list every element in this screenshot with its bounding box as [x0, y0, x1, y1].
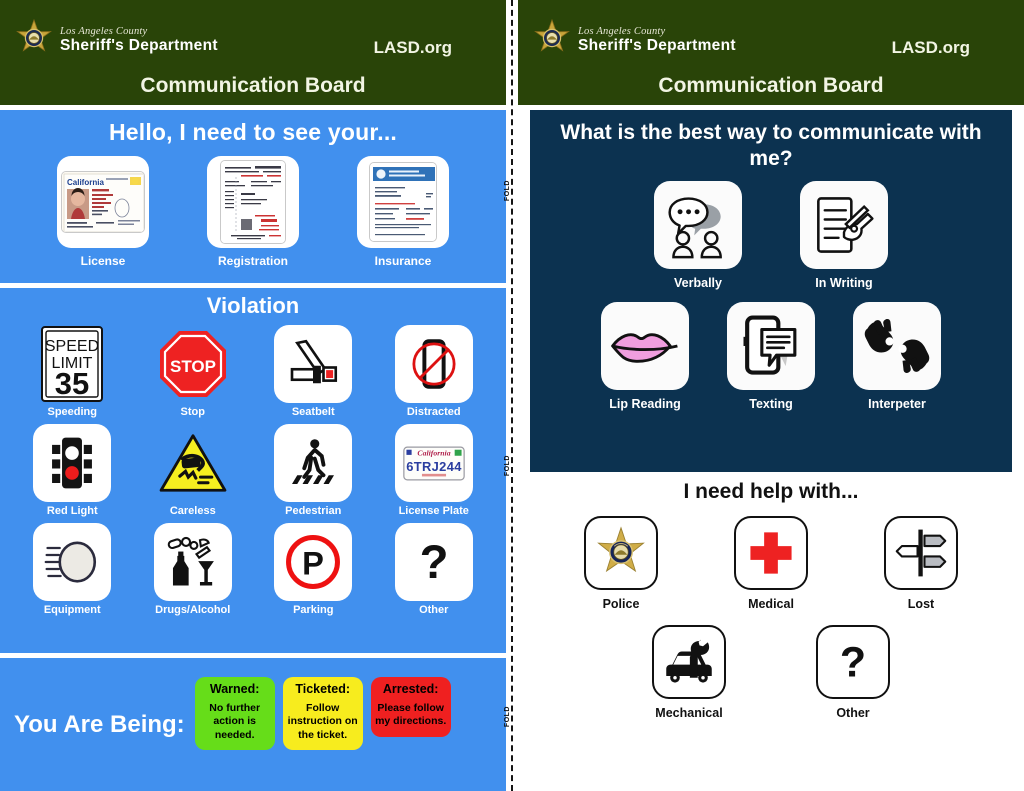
violation-label: Pedestrian — [253, 505, 374, 517]
status-heading: Ticketed: — [287, 682, 359, 696]
help-row-2: Mechanical ? Other — [530, 625, 1012, 720]
communicate-label: Interpeter — [853, 397, 941, 411]
drugs-alcohol-icon — [154, 523, 232, 601]
svg-text:?: ? — [840, 639, 866, 686]
signpost-icon — [884, 516, 958, 590]
violation-item-drugs-alcohol[interactable]: Drugs/Alcohol — [133, 523, 254, 616]
communicate-label: Texting — [727, 397, 815, 411]
pedestrian-crossing-icon — [274, 424, 352, 502]
insurance-card-icon — [357, 156, 449, 248]
status-card-warned[interactable]: Warned: No further action is needed. — [195, 677, 275, 749]
violation-item-pedestrian[interactable]: Pedestrian — [253, 424, 374, 517]
page-title-left: Communication Board — [0, 74, 506, 98]
violation-label: Careless — [133, 505, 254, 517]
help-section: I need help with... Police — [530, 478, 1012, 791]
status-card-arrested[interactable]: Arrested: Please follow my directions. — [371, 677, 451, 736]
fold-label: FOLD — [504, 455, 511, 476]
you-are-being-section: You Are Being: Warned: No further action… — [0, 658, 506, 791]
communicate-item-texting[interactable]: Texting — [727, 302, 815, 411]
status-card-ticketed[interactable]: Ticketed: Follow instruction on the tick… — [283, 677, 363, 749]
violation-item-license-plate[interactable]: California 6TRJ244 License Plate — [374, 424, 495, 517]
question-mark-icon: ? — [816, 625, 890, 699]
fold-line: FOLD FOLD FOLD — [505, 0, 519, 791]
communicate-item-verbally[interactable]: Verbally — [654, 181, 742, 290]
lasd-logo: Los Angeles County Sheriff's Department — [14, 19, 218, 59]
hand-writing-icon — [800, 181, 888, 269]
violation-item-distracted[interactable]: Distracted — [374, 325, 495, 418]
speech-bubble-people-icon — [654, 181, 742, 269]
status-heading: Warned: — [199, 682, 271, 696]
help-item-mechanical[interactable]: Mechanical — [652, 625, 726, 720]
headlight-icon — [33, 523, 111, 601]
svg-text:California: California — [417, 448, 450, 457]
sign-language-hands-icon — [853, 302, 941, 390]
right-panel: Los Angeles County Sheriff's Department … — [518, 0, 1024, 791]
status-card-row: Warned: No further action is needed. Tic… — [195, 677, 451, 771]
violation-label: Parking — [253, 604, 374, 616]
communicate-row-1: Verbally — [530, 181, 1012, 290]
violation-label: Distracted — [374, 406, 495, 418]
help-row-1: Police Medical — [530, 516, 1012, 611]
violation-grid: SPEED LIMIT 35 Speeding STOP — [0, 319, 506, 616]
violation-label: Other — [374, 604, 495, 616]
status-body: No further action is needed. — [199, 702, 271, 741]
communicate-label: In Writing — [800, 276, 888, 290]
help-label: Police — [584, 597, 658, 611]
svg-text:6TRJ244: 6TRJ244 — [406, 459, 462, 474]
svg-text:California: California — [67, 178, 104, 187]
seatbelt-icon — [274, 325, 352, 403]
car-wrench-icon — [652, 625, 726, 699]
lasd-logo: Los Angeles County Sheriff's Department — [532, 19, 736, 59]
communicate-row-2: Lip Reading — [530, 302, 1012, 411]
fold-label: FOLD — [504, 706, 511, 727]
status-heading: Arrested: — [375, 682, 447, 696]
violation-label: Equipment — [12, 604, 133, 616]
violation-item-equipment[interactable]: Equipment — [12, 523, 133, 616]
document-item-registration[interactable]: Registration — [203, 156, 303, 268]
question-mark-icon: ? — [395, 523, 473, 601]
communicate-item-interpreter[interactable]: Interpeter — [853, 302, 941, 411]
communicate-section: What is the best way to communicate with… — [530, 110, 1012, 472]
help-item-medical[interactable]: Medical — [734, 516, 808, 611]
status-body: Follow instruction on the ticket. — [287, 702, 359, 741]
stop-sign-icon: STOP — [154, 325, 232, 403]
logo-county-text: Los Angeles County — [578, 27, 736, 38]
violation-item-seatbelt[interactable]: Seatbelt — [253, 325, 374, 418]
traffic-light-icon — [33, 424, 111, 502]
hello-section: Hello, I need to see your... California — [0, 110, 506, 283]
document-item-license[interactable]: California — [53, 156, 153, 268]
sheriff-star-badge-icon — [14, 19, 54, 59]
you-are-being-title: You Are Being: — [14, 711, 185, 739]
help-label: Medical — [734, 597, 808, 611]
violation-item-parking[interactable]: P Parking — [253, 523, 374, 616]
page-title-right: Communication Board — [518, 74, 1024, 98]
help-item-police[interactable]: Police — [584, 516, 658, 611]
svg-text:STOP: STOP — [170, 357, 216, 376]
document-item-insurance[interactable]: Insurance — [353, 156, 453, 268]
left-header: Los Angeles County Sheriff's Department … — [0, 0, 506, 105]
violation-label: Seatbelt — [253, 406, 374, 418]
violation-item-careless[interactable]: Careless — [133, 424, 254, 517]
help-label: Mechanical — [652, 706, 726, 720]
slippery-road-icon — [154, 424, 232, 502]
communicate-label: Lip Reading — [601, 397, 689, 411]
lips-icon — [601, 302, 689, 390]
violation-label: Red Light — [12, 505, 133, 517]
lasd-url[interactable]: LASD.org — [374, 38, 452, 58]
speed-limit-sign-icon: SPEED LIMIT 35 — [33, 325, 111, 403]
logo-department-text: Sheriff's Department — [578, 38, 736, 54]
violation-label: Speeding — [12, 406, 133, 418]
right-header: Los Angeles County Sheriff's Department … — [518, 0, 1024, 105]
logo-department-text: Sheriff's Department — [60, 38, 218, 54]
svg-text:P: P — [302, 545, 324, 582]
fold-label: FOLD — [504, 180, 511, 201]
violation-label: Drugs/Alcohol — [133, 604, 254, 616]
violation-label: License Plate — [374, 505, 495, 517]
help-item-other[interactable]: ? Other — [816, 625, 890, 720]
status-body: Please follow my directions. — [375, 702, 447, 728]
vehicle-registration-icon — [207, 156, 299, 248]
help-item-lost[interactable]: Lost — [884, 516, 958, 611]
phone-message-icon — [727, 302, 815, 390]
violation-label: Stop — [133, 406, 254, 418]
violation-section-title: Violation — [0, 288, 506, 319]
violation-item-other[interactable]: ? Other — [374, 523, 495, 616]
help-label: Other — [816, 706, 890, 720]
drivers-license-icon: California — [57, 156, 149, 248]
document-label: Registration — [203, 254, 303, 268]
svg-text:35: 35 — [55, 366, 89, 401]
communicate-item-lip-reading[interactable]: Lip Reading — [601, 302, 689, 411]
no-phone-icon — [395, 325, 473, 403]
svg-text:?: ? — [419, 536, 448, 589]
document-row: California — [0, 146, 506, 268]
violation-item-red-light[interactable]: Red Light — [12, 424, 133, 517]
violation-item-speeding[interactable]: SPEED LIMIT 35 Speeding — [12, 325, 133, 418]
sheriff-star-badge-icon — [532, 19, 572, 59]
fold-dashes — [511, 0, 513, 791]
help-section-title: I need help with... — [530, 478, 1012, 504]
license-plate-icon: California 6TRJ244 — [395, 424, 473, 502]
svg-text:SPEED: SPEED — [45, 338, 99, 355]
document-label: License — [53, 254, 153, 268]
violation-section: Violation SPEED LIMIT 35 Speeding — [0, 288, 506, 653]
hello-section-title: Hello, I need to see your... — [0, 110, 506, 146]
communicate-section-title: What is the best way to communicate with… — [530, 110, 1012, 171]
sheriff-star-badge-icon — [584, 516, 658, 590]
help-label: Lost — [884, 597, 958, 611]
logo-county-text: Los Angeles County — [60, 27, 218, 38]
lasd-url[interactable]: LASD.org — [892, 38, 970, 58]
violation-item-stop[interactable]: STOP Stop — [133, 325, 254, 418]
red-cross-icon — [734, 516, 808, 590]
communicate-item-in-writing[interactable]: In Writing — [800, 181, 888, 290]
communicate-label: Verbally — [654, 276, 742, 290]
left-panel: Los Angeles County Sheriff's Department … — [0, 0, 506, 791]
document-label: Insurance — [353, 254, 453, 268]
no-parking-icon: P — [274, 523, 352, 601]
communication-board-page: Los Angeles County Sheriff's Department … — [0, 0, 1024, 791]
